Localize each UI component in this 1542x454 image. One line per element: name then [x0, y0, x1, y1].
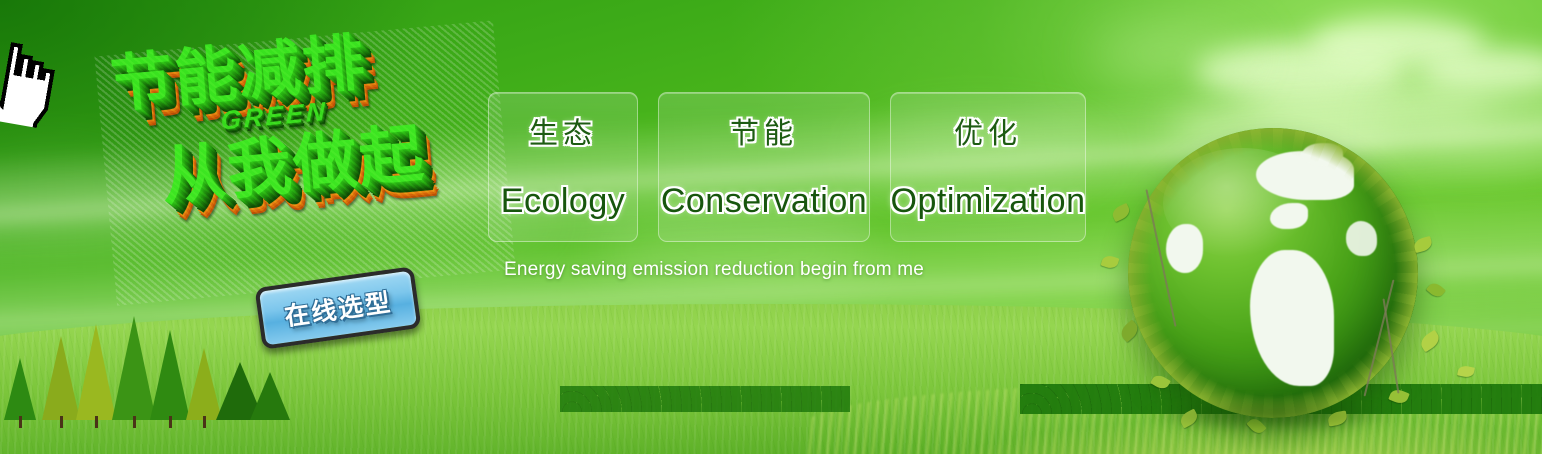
- feature-card-en-label: Conservation: [661, 182, 867, 221]
- feature-card-list: 生态 Ecology 节能 Conservation 优化 Optimizati…: [488, 92, 1086, 242]
- globe-ground-shadow: [1145, 398, 1400, 432]
- headline-line-2: 从我做起: [159, 114, 507, 209]
- feature-card-optimization[interactable]: 优化 Optimization: [890, 92, 1086, 242]
- feature-card-cn-label: 优化: [954, 110, 1022, 152]
- feature-card-cn-label: 节能: [730, 110, 798, 152]
- feature-card-en-label: Optimization: [891, 182, 1086, 221]
- feature-card-ecology[interactable]: 生态 Ecology: [488, 92, 638, 242]
- globe-sphere: [1128, 128, 1418, 418]
- feature-card-conservation[interactable]: 节能 Conservation: [658, 92, 870, 242]
- hero-headline-3d: 节能减排 GREEN 从我做起: [94, 20, 515, 305]
- leafy-globe-icon: [1128, 128, 1418, 418]
- feature-card-en-label: Ecology: [501, 182, 625, 221]
- treeline-icon: [560, 386, 850, 412]
- cta-button-label: 在线选型: [282, 283, 394, 334]
- globe-ivy-shade: [1128, 128, 1418, 418]
- hero-tagline: Energy saving emission reduction begin f…: [504, 259, 924, 281]
- feature-card-cn-label: 生态: [529, 110, 597, 152]
- eco-hero-banner: 节能减排 GREEN 从我做起 在线选型 生态 Ecology 节能 Conse…: [0, 0, 1542, 454]
